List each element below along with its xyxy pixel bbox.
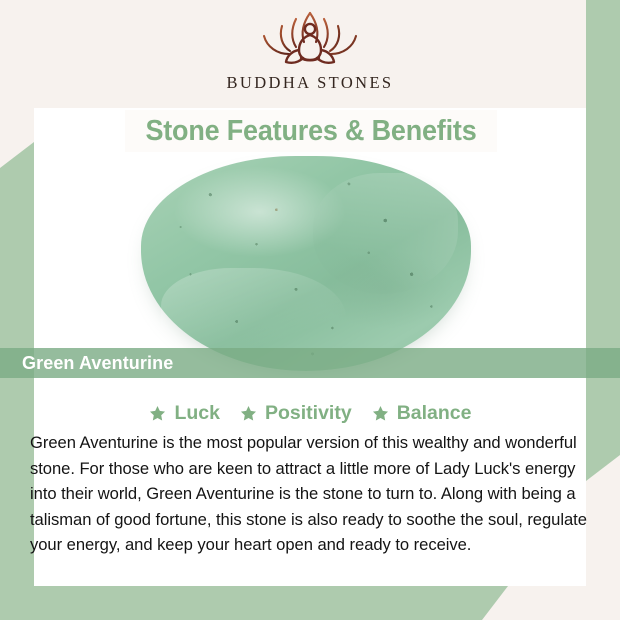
benefits-row: Luck Positivity Balance — [34, 402, 586, 425]
frame-bottom-corner — [482, 586, 508, 620]
stone-photo — [34, 152, 586, 378]
lotus-meditation-icon — [251, 6, 369, 72]
benefit-label: Luck — [174, 402, 220, 425]
frame-bottom-bar — [0, 586, 482, 620]
green-aventurine-stone-image — [141, 156, 471, 371]
stone-name-band: Green Aventurine — [0, 348, 620, 378]
brand-wordmark: BUDDHA STONES — [226, 73, 393, 93]
frame-left-corner — [0, 142, 34, 168]
benefit-item-luck: Luck — [148, 402, 220, 425]
benefit-item-balance: Balance — [371, 402, 472, 425]
frame-right-bar — [586, 0, 620, 455]
star-icon — [239, 404, 258, 423]
star-icon — [371, 404, 390, 423]
benefit-label: Positivity — [265, 402, 352, 425]
stone-info-card: BUDDHA STONES Stone Features & Benefits … — [0, 0, 620, 620]
benefit-label: Balance — [397, 402, 472, 425]
title-banner: Stone Features & Benefits — [125, 110, 497, 152]
page-title: Stone Features & Benefits — [145, 115, 476, 148]
star-icon — [148, 404, 167, 423]
brand-header: BUDDHA STONES — [34, 0, 586, 108]
stone-name-label: Green Aventurine — [22, 353, 173, 374]
stone-description: Green Aventurine is the most popular ver… — [30, 430, 598, 558]
benefit-item-positivity: Positivity — [239, 402, 352, 425]
